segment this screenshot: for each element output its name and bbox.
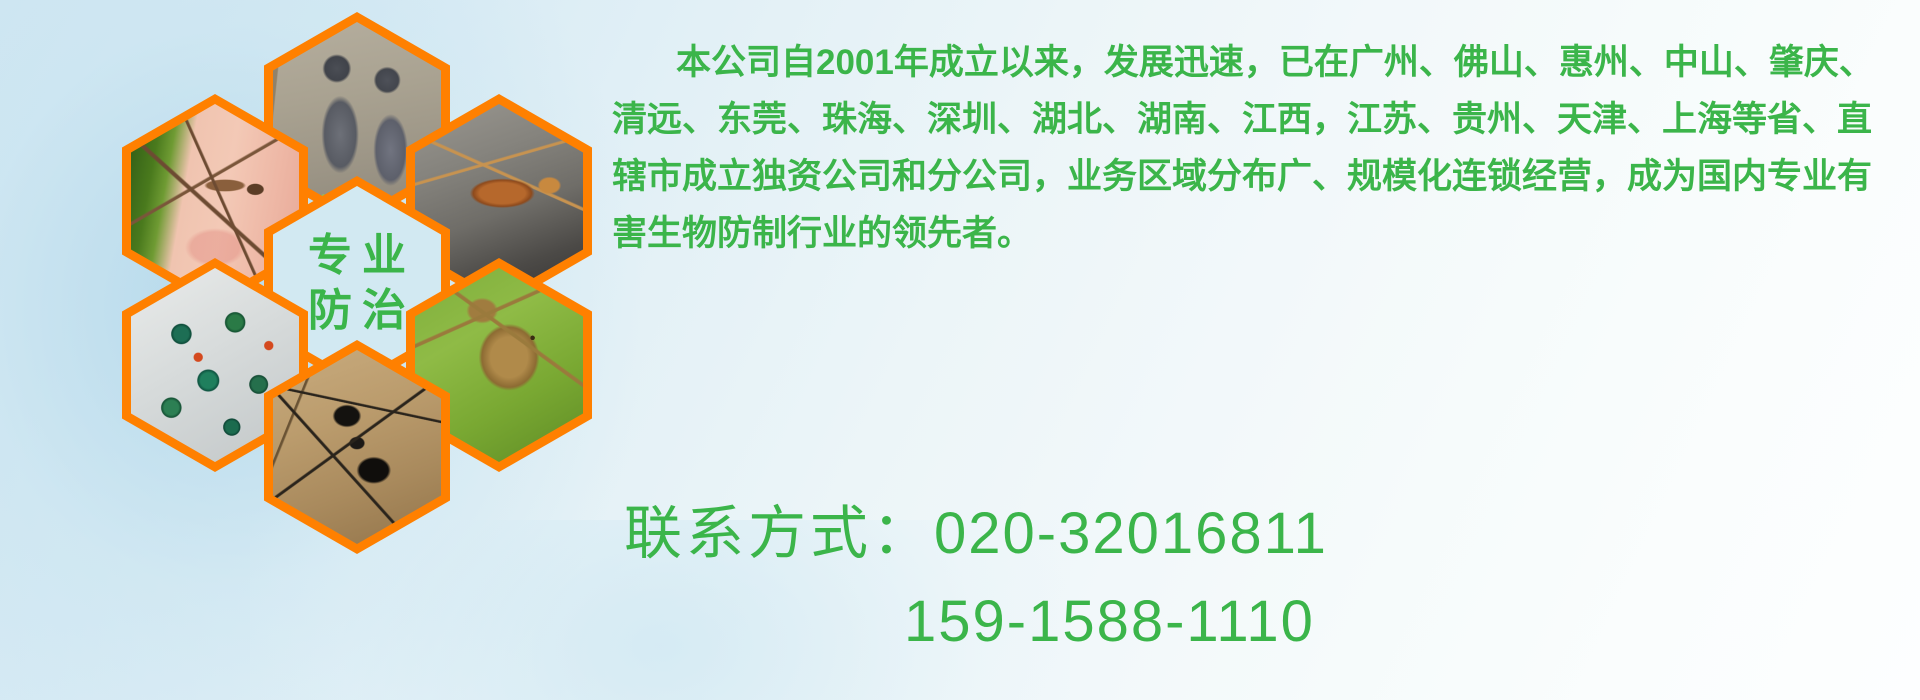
contact-phone-primary[interactable]: 020-32016811 xyxy=(934,501,1328,566)
contact-phone-secondary[interactable]: 159-1588-1110 xyxy=(904,589,1315,654)
promo-banner: 专业 防治 本公司自2001年成立以来，发展迅速，已在广州、佛山、惠州、中山、肇… xyxy=(0,0,1920,700)
center-badge-line-2: 防治 xyxy=(298,283,416,338)
contact-block: 联系方式：020-32016811 159-1588-1110 xyxy=(614,490,1894,666)
contact-primary-line: 联系方式：020-32016811 xyxy=(614,490,1894,578)
honeycomb-collage: 专业 防治 xyxy=(96,0,596,580)
copy-column: 本公司自2001年成立以来，发展迅速，已在广州、佛山、惠州、中山、肇庆、清远、东… xyxy=(612,34,1888,262)
center-badge-line-1: 专业 xyxy=(298,228,416,283)
company-intro-paragraph: 本公司自2001年成立以来，发展迅速，已在广州、佛山、惠州、中山、肇庆、清远、东… xyxy=(612,34,1888,262)
ant-photo-icon xyxy=(273,350,441,544)
hex-cell-inner xyxy=(273,350,441,544)
contact-label: 联系方式： xyxy=(624,501,934,566)
contact-secondary-line: 159-1588-1110 xyxy=(614,578,1894,666)
